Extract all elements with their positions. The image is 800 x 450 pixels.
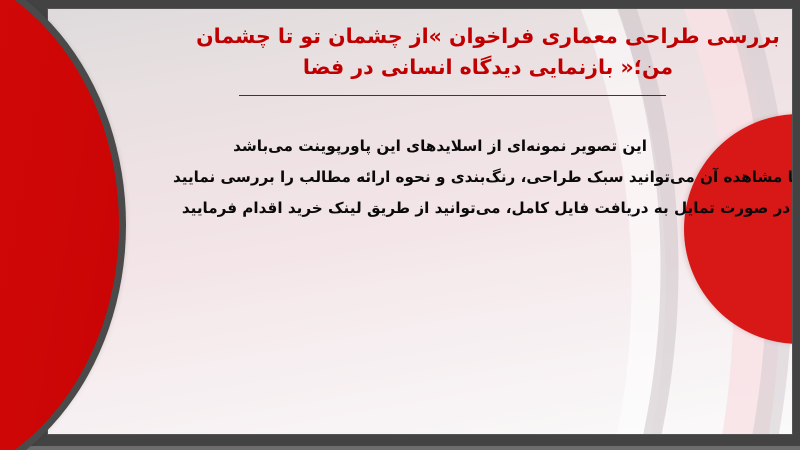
body-line-3: در صورت تمایل به دریافت فایل کامل، می‌تو… [164, 193, 792, 224]
slide-text-content: بررسی طراحی معماری فراخوان »از چشمان تو … [158, 9, 792, 434]
body-line-1: این تصویر نمونه‌ای از اسلایدهای این پاور… [164, 131, 792, 162]
title-underline-rule [239, 95, 666, 96]
slide-content-plate: بررسی طراحی معماری فراخوان »از چشمان تو … [48, 9, 792, 434]
left-red-shape-group [0, 0, 150, 450]
slide-canvas: بررسی طراحی معماری فراخوان »از چشمان تو … [0, 0, 800, 450]
body-line-2: با مشاهده آن می‌توانید سبک طراحی، رنگ‌بن… [164, 162, 792, 193]
left-shape-outline-arc [0, 0, 126, 450]
slide-body: این تصویر نمونه‌ای از اسلایدهای این پاور… [164, 131, 792, 224]
slide-title: بررسی طراحی معماری فراخوان »از چشمان تو … [170, 21, 792, 83]
